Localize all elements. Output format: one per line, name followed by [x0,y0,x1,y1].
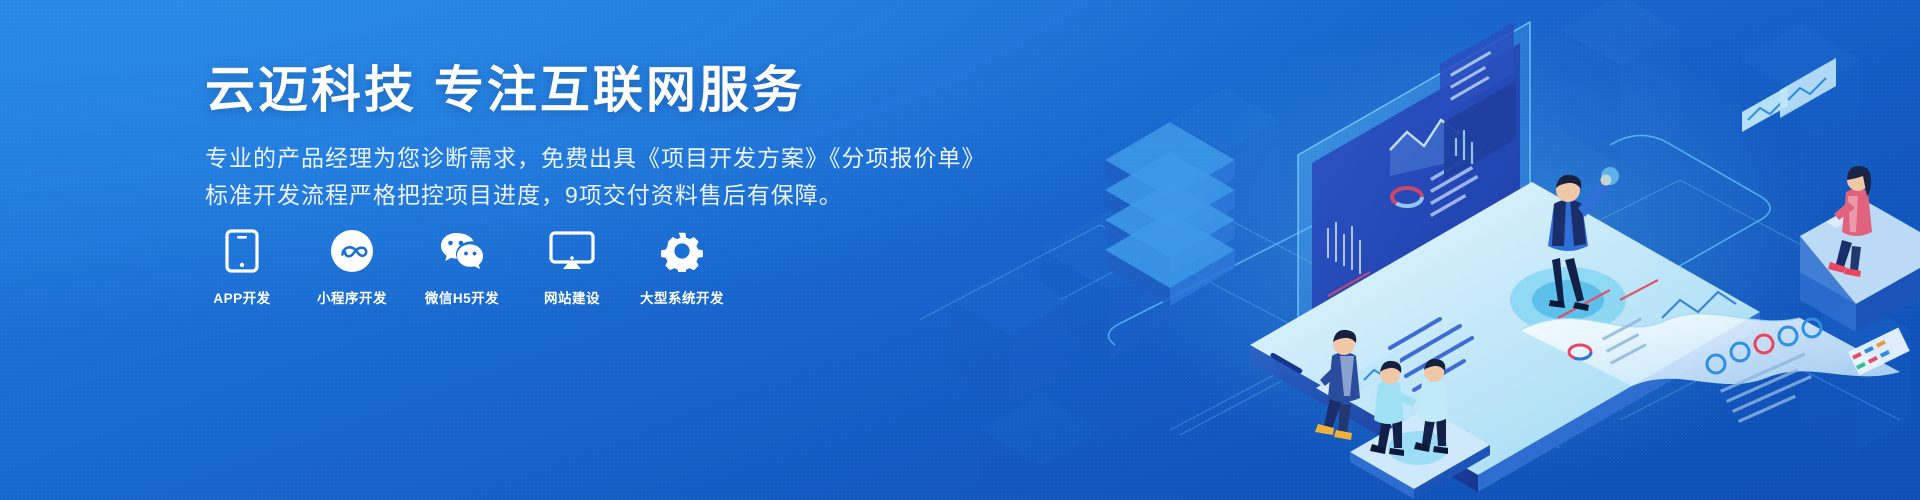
gear-icon [659,228,705,274]
service-item-miniprogram[interactable]: 小程序开发 [315,228,389,307]
service-item-wechat-h5[interactable]: 微信H5开发 [425,228,499,307]
service-list: APP开发 小程序开发 [205,228,719,307]
service-label: 微信H5开发 [425,287,499,307]
subtitle-block: 专业的产品经理为您诊断需求，免费出具《项目开发方案》《分项报价单》 标准开发流程… [205,140,986,215]
isometric-tech-illustration [920,0,1920,500]
promo-banner: 云迈科技 专注互联网服务 专业的产品经理为您诊断需求，免费出具《项目开发方案》《… [0,0,1920,500]
monitor-icon [549,228,595,274]
service-label: APP开发 [213,287,270,307]
service-item-website[interactable]: 网站建设 [535,228,609,307]
service-item-app[interactable]: APP开发 [205,228,279,307]
subtitle-line-2: 标准开发流程严格把控项目进度，9项交付资料售后有保障。 [205,177,986,214]
wechat-icon [439,228,485,274]
mini-program-icon [329,228,375,274]
mobile-phone-icon [219,228,265,274]
service-label: 大型系统开发 [640,287,724,307]
server-stack [1105,122,1235,306]
service-item-large-system[interactable]: 大型系统开发 [645,228,719,307]
service-label: 小程序开发 [317,287,387,307]
subtitle-line-1: 专业的产品经理为您诊断需求，免费出具《项目开发方案》《分项报价单》 [205,140,986,177]
banner-copy: 云迈科技 专注互联网服务 专业的产品经理为您诊断需求，免费出具《项目开发方案》《… [205,62,986,215]
service-label: 网站建设 [544,287,600,307]
page-title: 云迈科技 专注互联网服务 [205,62,986,118]
